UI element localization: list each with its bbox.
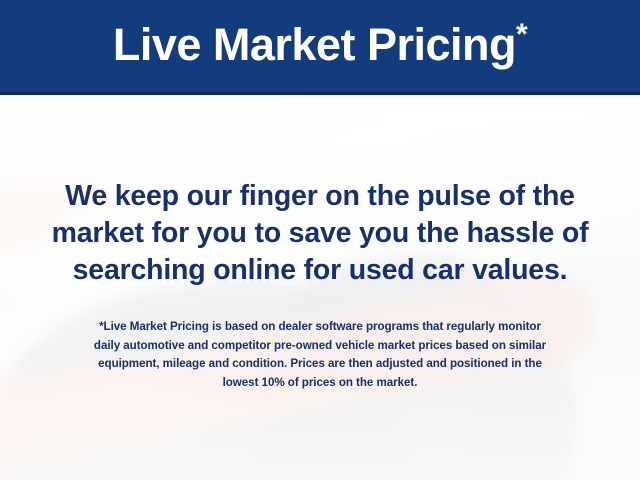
page-title: Live Market Pricing* — [113, 22, 527, 70]
live-market-pricing-promo: Live Market Pricing* We keep our finger … — [0, 0, 640, 480]
page-title-text: Live Market Pricing — [113, 19, 516, 70]
disclaimer-line-4: lowest 10% of prices on the market. — [30, 374, 610, 393]
headline-line-2: market for you to save you the hassle of — [0, 215, 640, 252]
disclaimer-line-3: equipment, mileage and condition. Prices… — [30, 355, 610, 374]
headline-line-3: searching online for used car values. — [0, 252, 640, 289]
header-banner: Live Market Pricing* — [0, 0, 640, 95]
disclaimer-line-1: *Live Market Pricing is based on dealer … — [30, 318, 610, 337]
disclaimer-line-2: daily automotive and competitor pre-owne… — [30, 337, 610, 356]
headline: We keep our finger on the pulse of the m… — [0, 178, 640, 289]
disclaimer: *Live Market Pricing is based on dealer … — [30, 318, 610, 392]
headline-line-1: We keep our finger on the pulse of the — [0, 178, 640, 215]
page-title-asterisk: * — [516, 18, 527, 51]
